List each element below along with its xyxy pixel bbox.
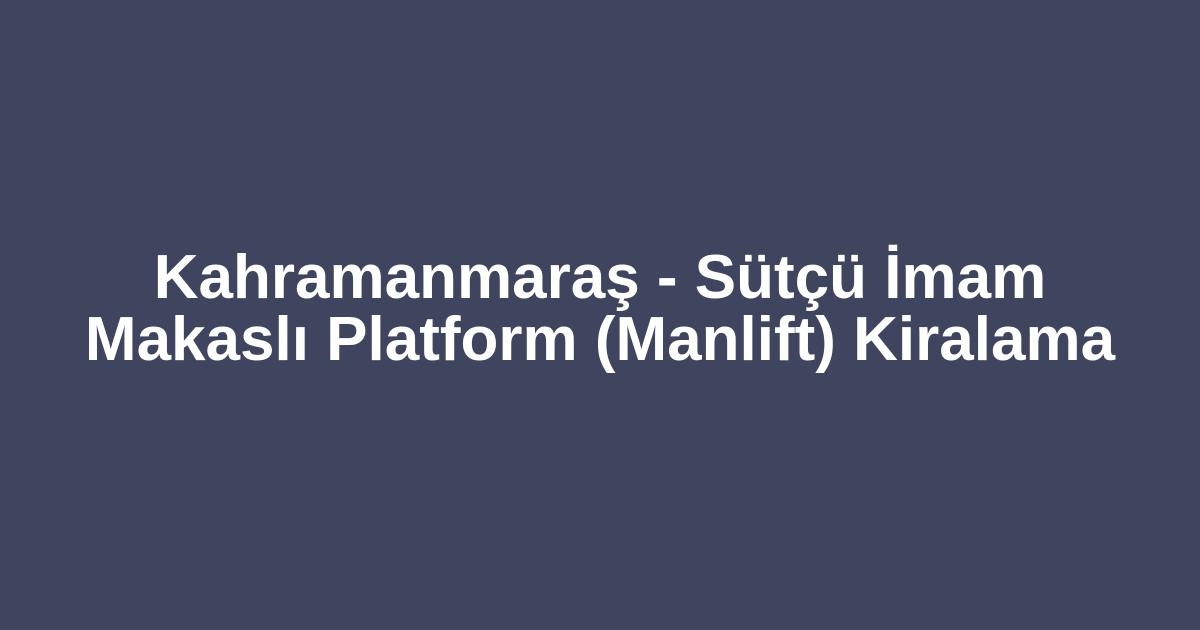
page-title: Kahramanmaraş - Sütçü İmam Makaslı Platf… <box>85 247 1115 371</box>
share-preview-card: Kahramanmaraş - Sütçü İmam Makaslı Platf… <box>0 0 1200 630</box>
headline-block: Kahramanmaraş - Sütçü İmam Makaslı Platf… <box>0 247 1200 371</box>
